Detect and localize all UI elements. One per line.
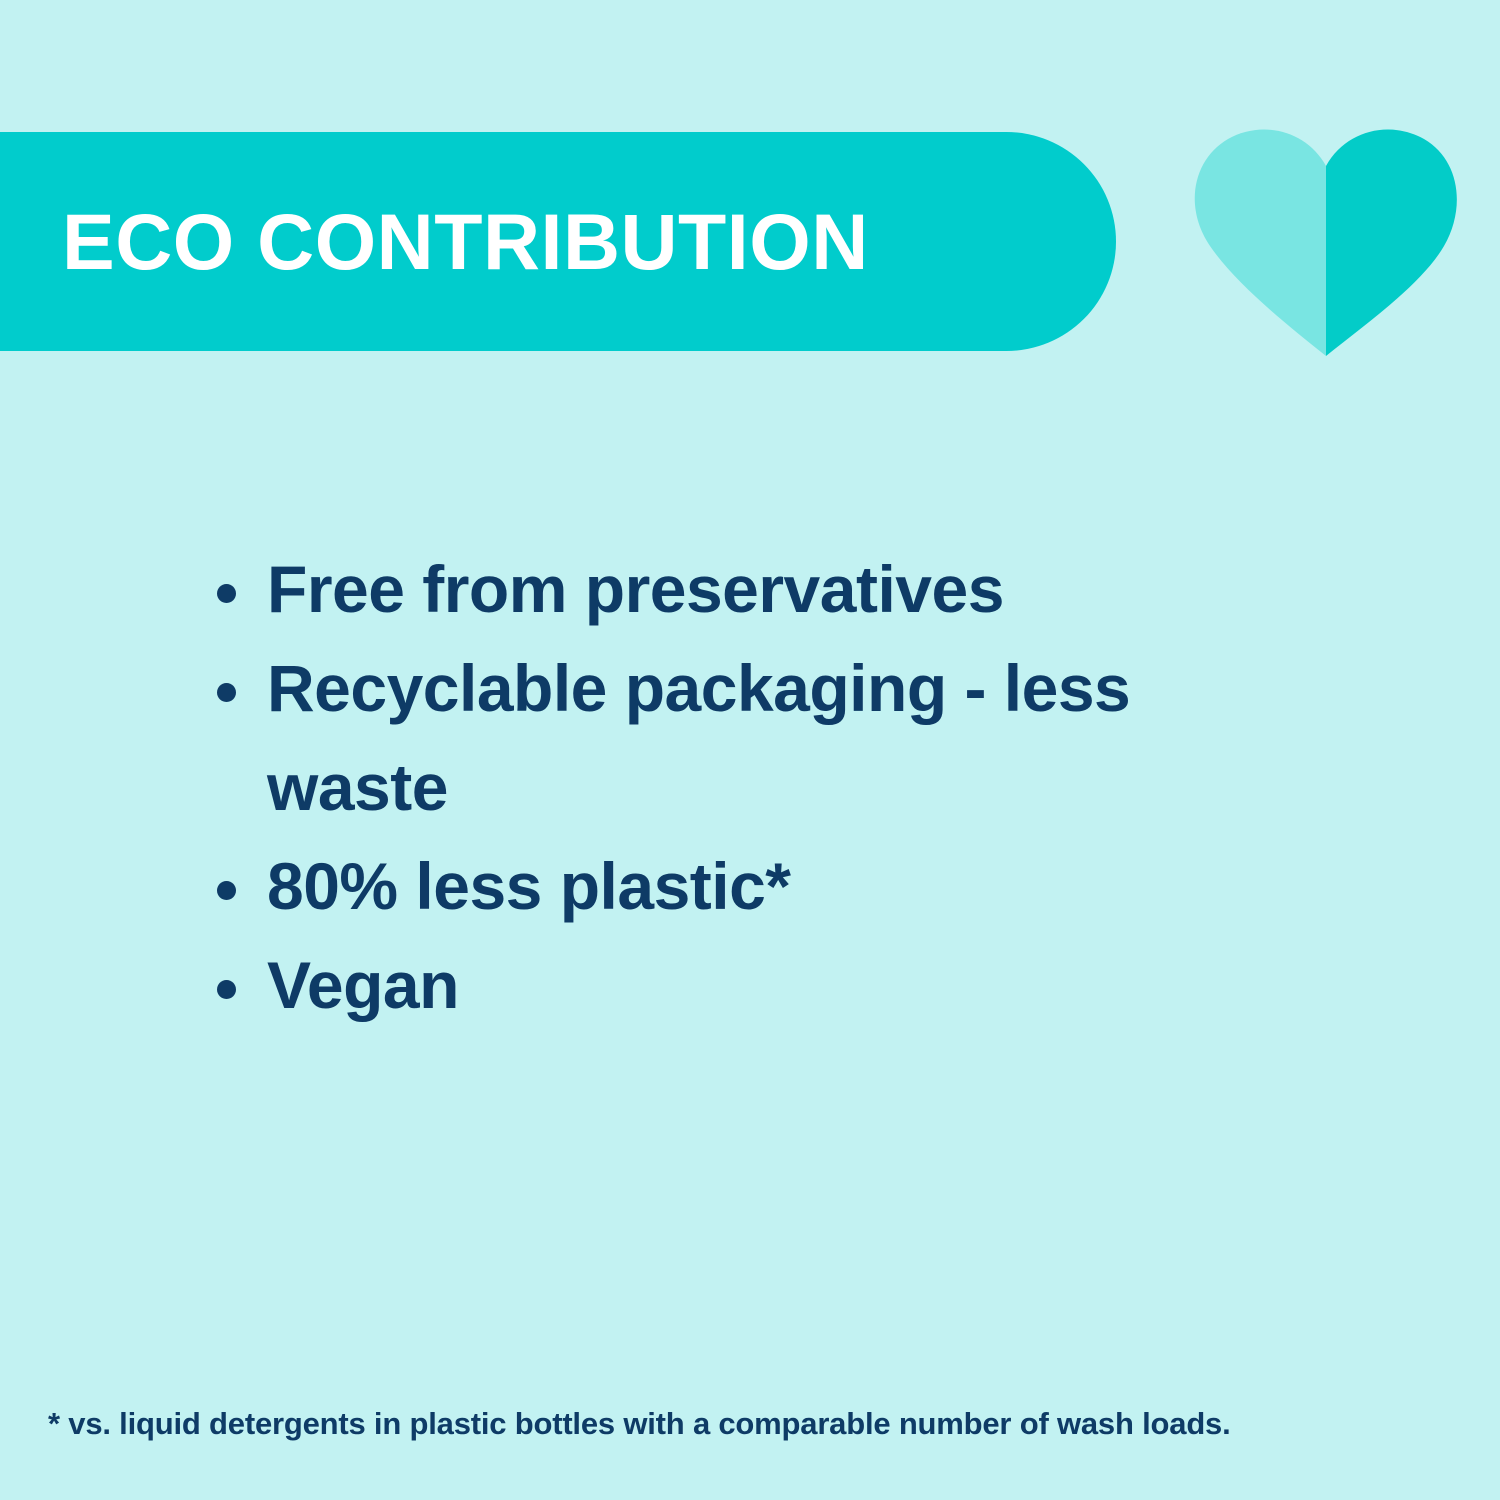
page-title: ECO CONTRIBUTION [62,202,869,281]
benefits-list: Free from preservatives Recyclable packa… [205,540,1325,1035]
heart-icon [1190,128,1462,356]
list-item: Recyclable packaging - less waste [205,639,1325,837]
eco-contribution-card: ECO CONTRIBUTION Free from preservatives… [0,0,1500,1500]
list-item: 80% less plastic* [205,837,1325,936]
header-banner: ECO CONTRIBUTION [0,132,1116,351]
list-item: Vegan [205,936,1325,1035]
list-item: Free from preservatives [205,540,1325,639]
footnote-text: * vs. liquid detergents in plastic bottl… [48,1404,1468,1444]
